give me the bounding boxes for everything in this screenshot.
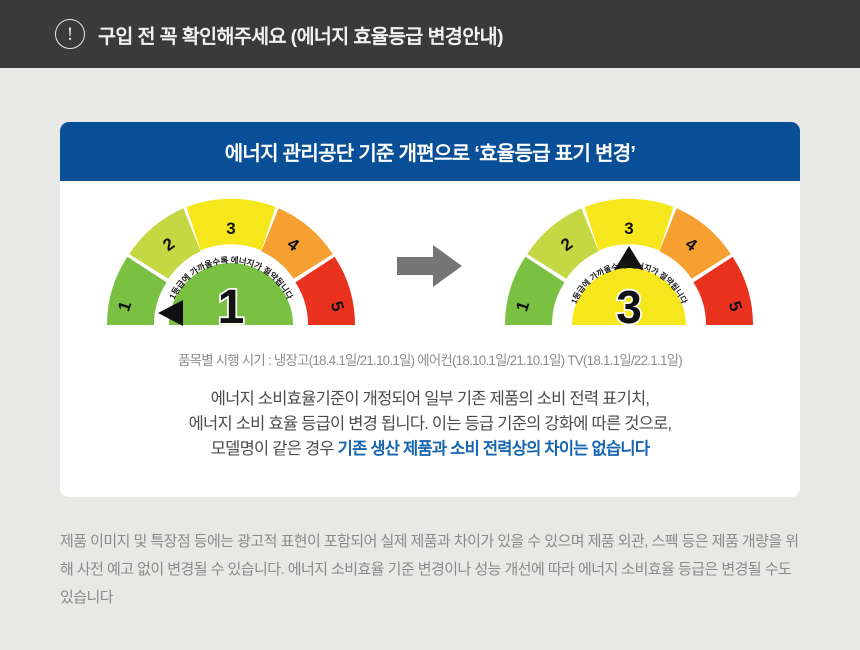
explanation-line-3: 모델명이 같은 경우 기존 생산 제품과 소비 전력상의 차이는 없습니다: [60, 437, 800, 462]
after-gauge: 1 2 3 4 5 1등급에 가까울수록 에너지가 절약됩니다 3: [499, 195, 759, 337]
exclamation-glyph: !: [67, 25, 73, 44]
after-gauge-grade: 3: [616, 281, 642, 333]
before-gauge: 1 2 3 4 5 1등급에 가까울수록 에너지가 절약됩니다 1: [101, 195, 361, 337]
energy-grade-info-card: 에너지 관리공단 기준 개편으로 ‘효율등급 표기 변경’ 1 2: [60, 122, 800, 497]
notice-banner: ! 구입 전 꼭 확인해주세요 (에너지 효율등급 변경안내): [0, 0, 860, 68]
explanation-line-3-prefix: 모델명이 같은 경우: [211, 440, 338, 458]
right-arrow-icon: [395, 242, 465, 290]
card-header-title: 에너지 관리공단 기준 개편으로 ‘효율등급 표기 변경’: [225, 137, 636, 166]
explanation-line-2: 에너지 소비 효율 등급이 변경 됩니다. 이는 등급 기준의 강화에 따른 것…: [60, 412, 800, 437]
explanation-line-1: 에너지 소비효율기준이 개정되어 일부 기존 제품의 소비 전력 표기치,: [60, 387, 800, 412]
after-segment-label-3: 3: [624, 219, 633, 238]
explanation-text: 에너지 소비효율기준이 개정되어 일부 기존 제품의 소비 전력 표기치, 에너…: [60, 387, 800, 462]
banner-title: 구입 전 꼭 확인해주세요 (에너지 효율등급 변경안내): [98, 20, 503, 49]
schedule-note: 품목별 시행 시기 : 냉장고(18.4.1일/21.10.1일) 에어컨(18…: [60, 349, 800, 369]
disclaimer-text: 제품 이미지 및 특장점 등에는 광고적 표현이 포함되어 실제 제품과 차이가…: [60, 528, 800, 612]
explanation-emphasis: 기존 생산 제품과 소비 전력상의 차이는 없습니다: [338, 440, 650, 458]
exclamation-circle-icon: !: [55, 19, 85, 49]
before-segment-label-3: 3: [226, 219, 235, 238]
card-header: 에너지 관리공단 기준 개편으로 ‘효율등급 표기 변경’: [60, 122, 800, 181]
before-gauge-grade: 1: [218, 281, 245, 334]
gauges-row: 1 2 3 4 5 1등급에 가까울수록 에너지가 절약됩니다 1: [60, 195, 800, 337]
